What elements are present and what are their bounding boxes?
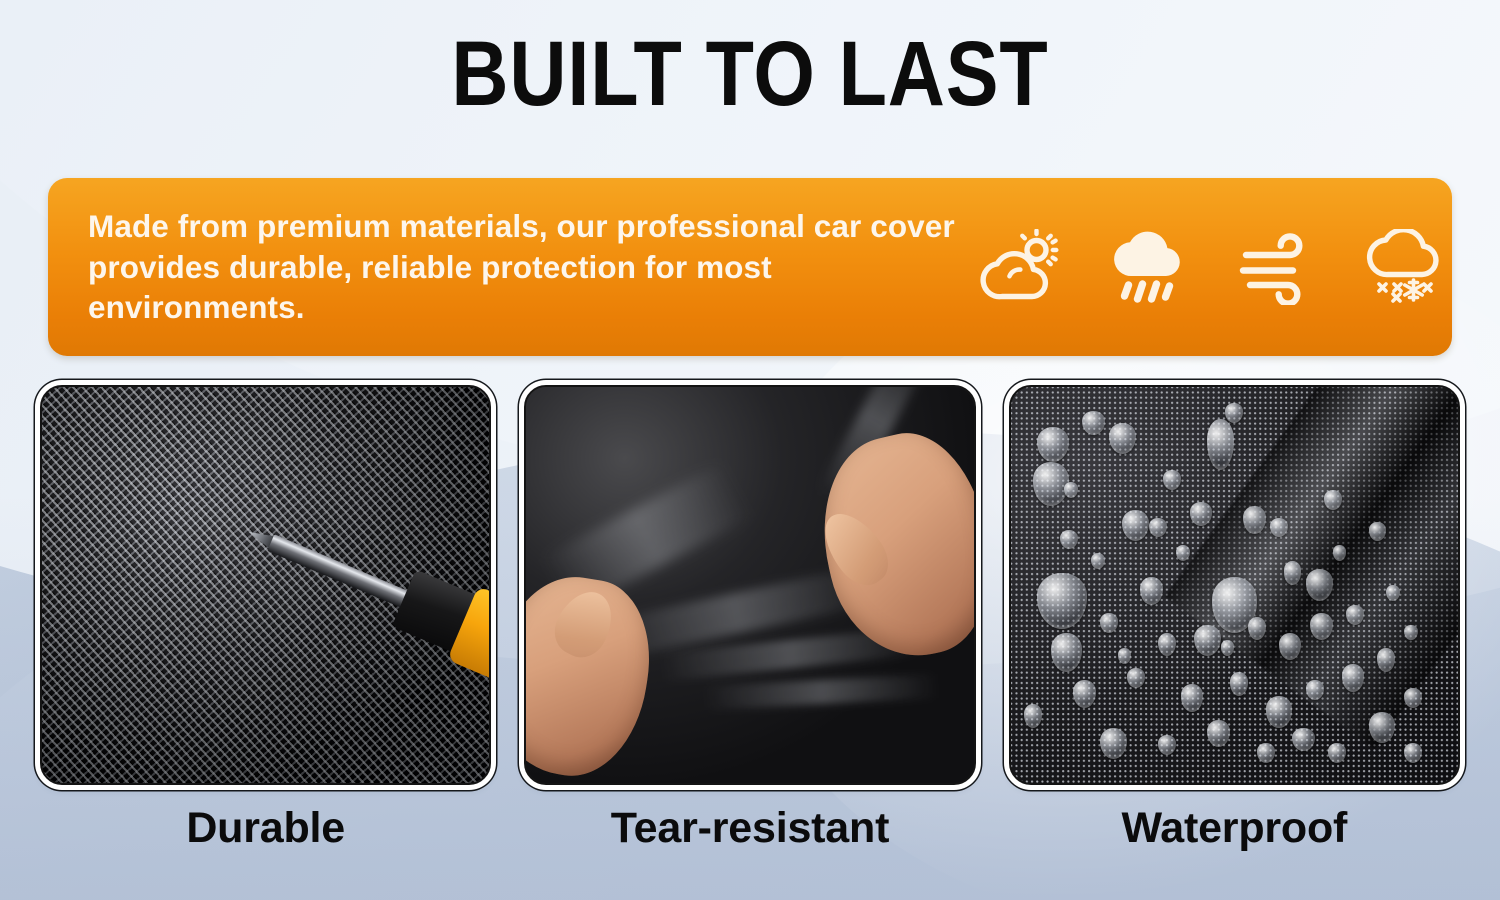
promo-banner: Made from premium materials, our profess… <box>48 178 1452 356</box>
snow-cloud-icon <box>1362 229 1448 305</box>
page-title: BUILT TO LAST <box>105 28 1395 120</box>
feature-card-durable[interactable] <box>40 385 491 785</box>
caption-durable: Durable <box>40 792 491 864</box>
water-droplet <box>1306 569 1333 601</box>
water-droplet <box>1324 490 1342 510</box>
photo-water-beads-on-fabric <box>1011 387 1458 783</box>
photo-screwdriver-on-woven-fabric <box>42 387 489 783</box>
water-droplet <box>1140 577 1162 605</box>
feature-card-row <box>40 385 1460 785</box>
water-droplet <box>1082 411 1104 435</box>
water-droplet <box>1091 553 1104 569</box>
partly-cloudy-icon <box>978 229 1064 305</box>
water-droplet <box>1100 613 1118 633</box>
water-droplet <box>1037 573 1086 628</box>
rain-cloud-icon <box>1106 229 1192 305</box>
water-droplet <box>1306 680 1324 700</box>
water-droplet <box>1243 506 1265 534</box>
water-droplet <box>1033 462 1069 506</box>
water-droplet <box>1230 672 1248 696</box>
water-droplet <box>1024 704 1042 728</box>
thumb <box>546 582 623 665</box>
water-droplet <box>1073 680 1095 708</box>
water-droplet <box>1346 605 1364 625</box>
photo-hands-stretching-cover <box>526 387 973 783</box>
weather-icon-group <box>978 229 1470 305</box>
caption-tear-resistant: Tear-resistant <box>524 792 975 864</box>
screwdriver-shaft <box>267 534 417 611</box>
water-droplet <box>1163 470 1181 490</box>
water-droplet <box>1190 502 1212 526</box>
water-droplet <box>1386 585 1399 601</box>
caption-waterproof: Waterproof <box>1009 792 1460 864</box>
feature-card-waterproof[interactable] <box>1009 385 1460 785</box>
water-droplet <box>1064 482 1077 498</box>
promo-banner-text: Made from premium materials, our profess… <box>88 206 978 329</box>
water-droplet <box>1181 684 1203 712</box>
feature-caption-row: Durable Tear-resistant Waterproof <box>40 792 1460 864</box>
water-droplet <box>1127 668 1145 688</box>
feature-card-tear-resistant[interactable] <box>524 385 975 785</box>
wind-icon <box>1234 229 1320 305</box>
water-droplet <box>1257 743 1275 763</box>
